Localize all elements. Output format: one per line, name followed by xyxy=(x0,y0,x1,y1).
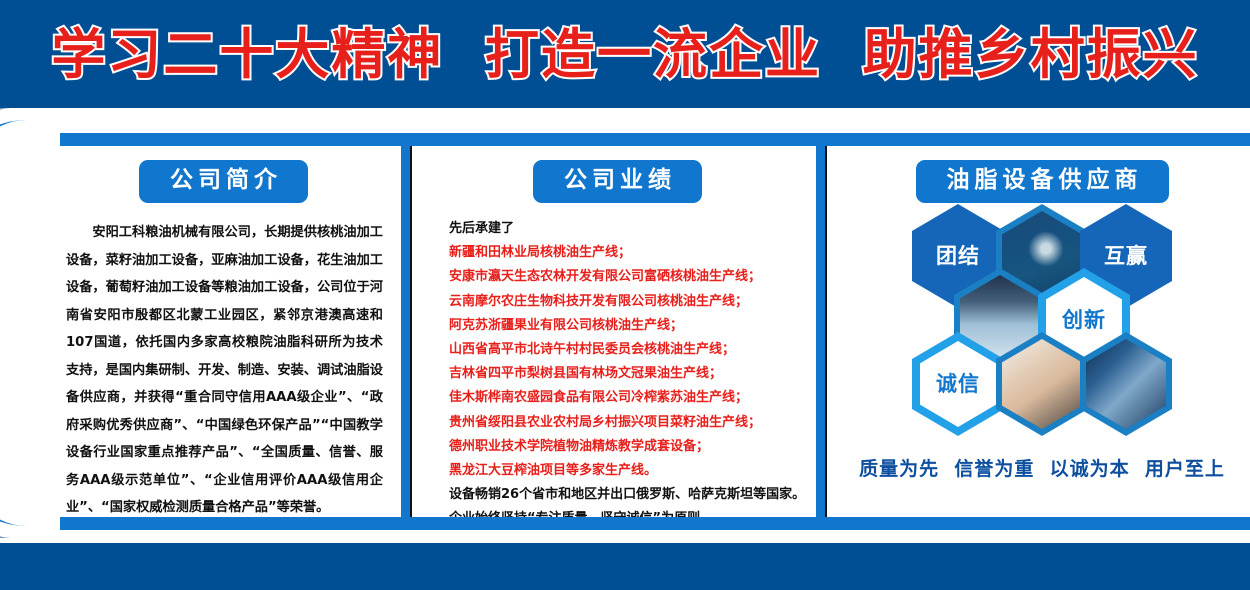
hex-honeycomb: 团结 互赢 创新 诚信 xyxy=(834,204,1250,454)
footer-band xyxy=(0,543,1250,590)
project-line: 黑龙江大豆榨油项目等多家生产线。 xyxy=(449,459,800,483)
bottom-accent-stripe xyxy=(60,517,1250,530)
project-line: 吉林省四平市梨树县国有林场文冠果油生产线； xyxy=(449,362,800,386)
panel-divider-2 xyxy=(825,146,827,517)
project-line: 阿克苏浙疆果业有限公司核桃油生产线； xyxy=(449,314,800,338)
performance-intro: 先后承建了 xyxy=(449,217,800,241)
performance-body: 先后承建了 新疆和田林业局核桃油生产线；安康市瀛天生态农林开发有限公司富硒核桃油… xyxy=(449,217,800,517)
hex-label-tuanjie: 团结 xyxy=(936,245,980,267)
panel-title-company-intro: 公司简介 xyxy=(139,160,308,203)
hex-label-huying: 互赢 xyxy=(1104,245,1148,267)
left-pill-wrap: 公司简介 xyxy=(46,160,401,203)
hex-label-chuangxin: 创新 xyxy=(1062,309,1106,331)
hex-label-chengxin: 诚信 xyxy=(936,373,980,395)
building-image xyxy=(1086,339,1166,429)
project-list: 新疆和田林业局核桃油生产线；安康市瀛天生态农林开发有限公司富硒核桃油生产线；云南… xyxy=(449,241,800,483)
project-line: 佳木斯桦南农盛园食品有限公司冷榨紫苏油生产线； xyxy=(449,386,800,410)
performance-footer: 设备畅销26个省市和地区并出口俄罗斯、哈萨克斯坦等国家。企业始终坚持“专注质量，… xyxy=(449,483,800,517)
project-line: 云南摩尔农庄生物科技开发有限公司核桃油生产线； xyxy=(449,290,800,314)
poster-stage: 学习二十大精神 打造一流企业 助推乡村振兴 公司简介 安阳工科粮油机械有限公司，… xyxy=(0,0,1250,590)
performance-footer-line: 企业始终坚持“专注质量，坚守诚信”为原则。 xyxy=(449,507,800,517)
panel-company-performance: 公司业绩 先后承建了 新疆和田林业局核桃油生产线；安康市瀛天生态农林开发有限公司… xyxy=(419,146,825,517)
project-line: 山西省高平市北诗午村村民委员会核桃油生产线； xyxy=(449,338,800,362)
project-line: 安康市瀛天生态农林开发有限公司富硒核桃油生产线； xyxy=(449,265,800,289)
panel-divider-1 xyxy=(410,146,412,517)
page-title: 学习二十大精神 打造一流企业 助推乡村振兴 xyxy=(0,26,1250,84)
supplier-slogan: 质量为先 信誉为重 以诚为本 用户至上 xyxy=(834,454,1250,481)
company-intro-text: 安阳工科粮油机械有限公司，长期提供核桃油加工设备，菜籽油加工设备，亚麻油加工设备… xyxy=(66,219,383,517)
project-line: 贵州省绥阳县农业农村局乡村振兴项目菜籽油生产线； xyxy=(449,411,800,435)
header-banner: 学习二十大精神 打造一流企业 助推乡村振兴 xyxy=(0,0,1250,108)
panel-supplier: 油脂设备供应商 团结 互赢 创新 xyxy=(834,146,1250,517)
project-line: 新疆和田林业局核桃油生产线； xyxy=(449,241,800,265)
right-pill-wrap: 油脂设备供应商 xyxy=(834,160,1250,203)
panel-title-company-performance: 公司业绩 xyxy=(533,160,702,203)
project-line: 德州职业技术学院植物油精炼教学成套设备； xyxy=(449,435,800,459)
performance-footer-line: 设备畅销26个省市和地区并出口俄罗斯、哈萨克斯坦等国家。 xyxy=(449,483,800,507)
hex-chengxin-inner: 诚信 xyxy=(920,341,996,427)
mid-pill-wrap: 公司业绩 xyxy=(419,160,816,203)
panel-title-supplier: 油脂设备供应商 xyxy=(916,160,1169,203)
panel-company-intro: 公司简介 安阳工科粮油机械有限公司，长期提供核桃油加工设备，菜籽油加工设备，亚麻… xyxy=(46,146,410,517)
handshake-image xyxy=(1002,339,1082,429)
top-accent-stripe xyxy=(60,133,1250,146)
